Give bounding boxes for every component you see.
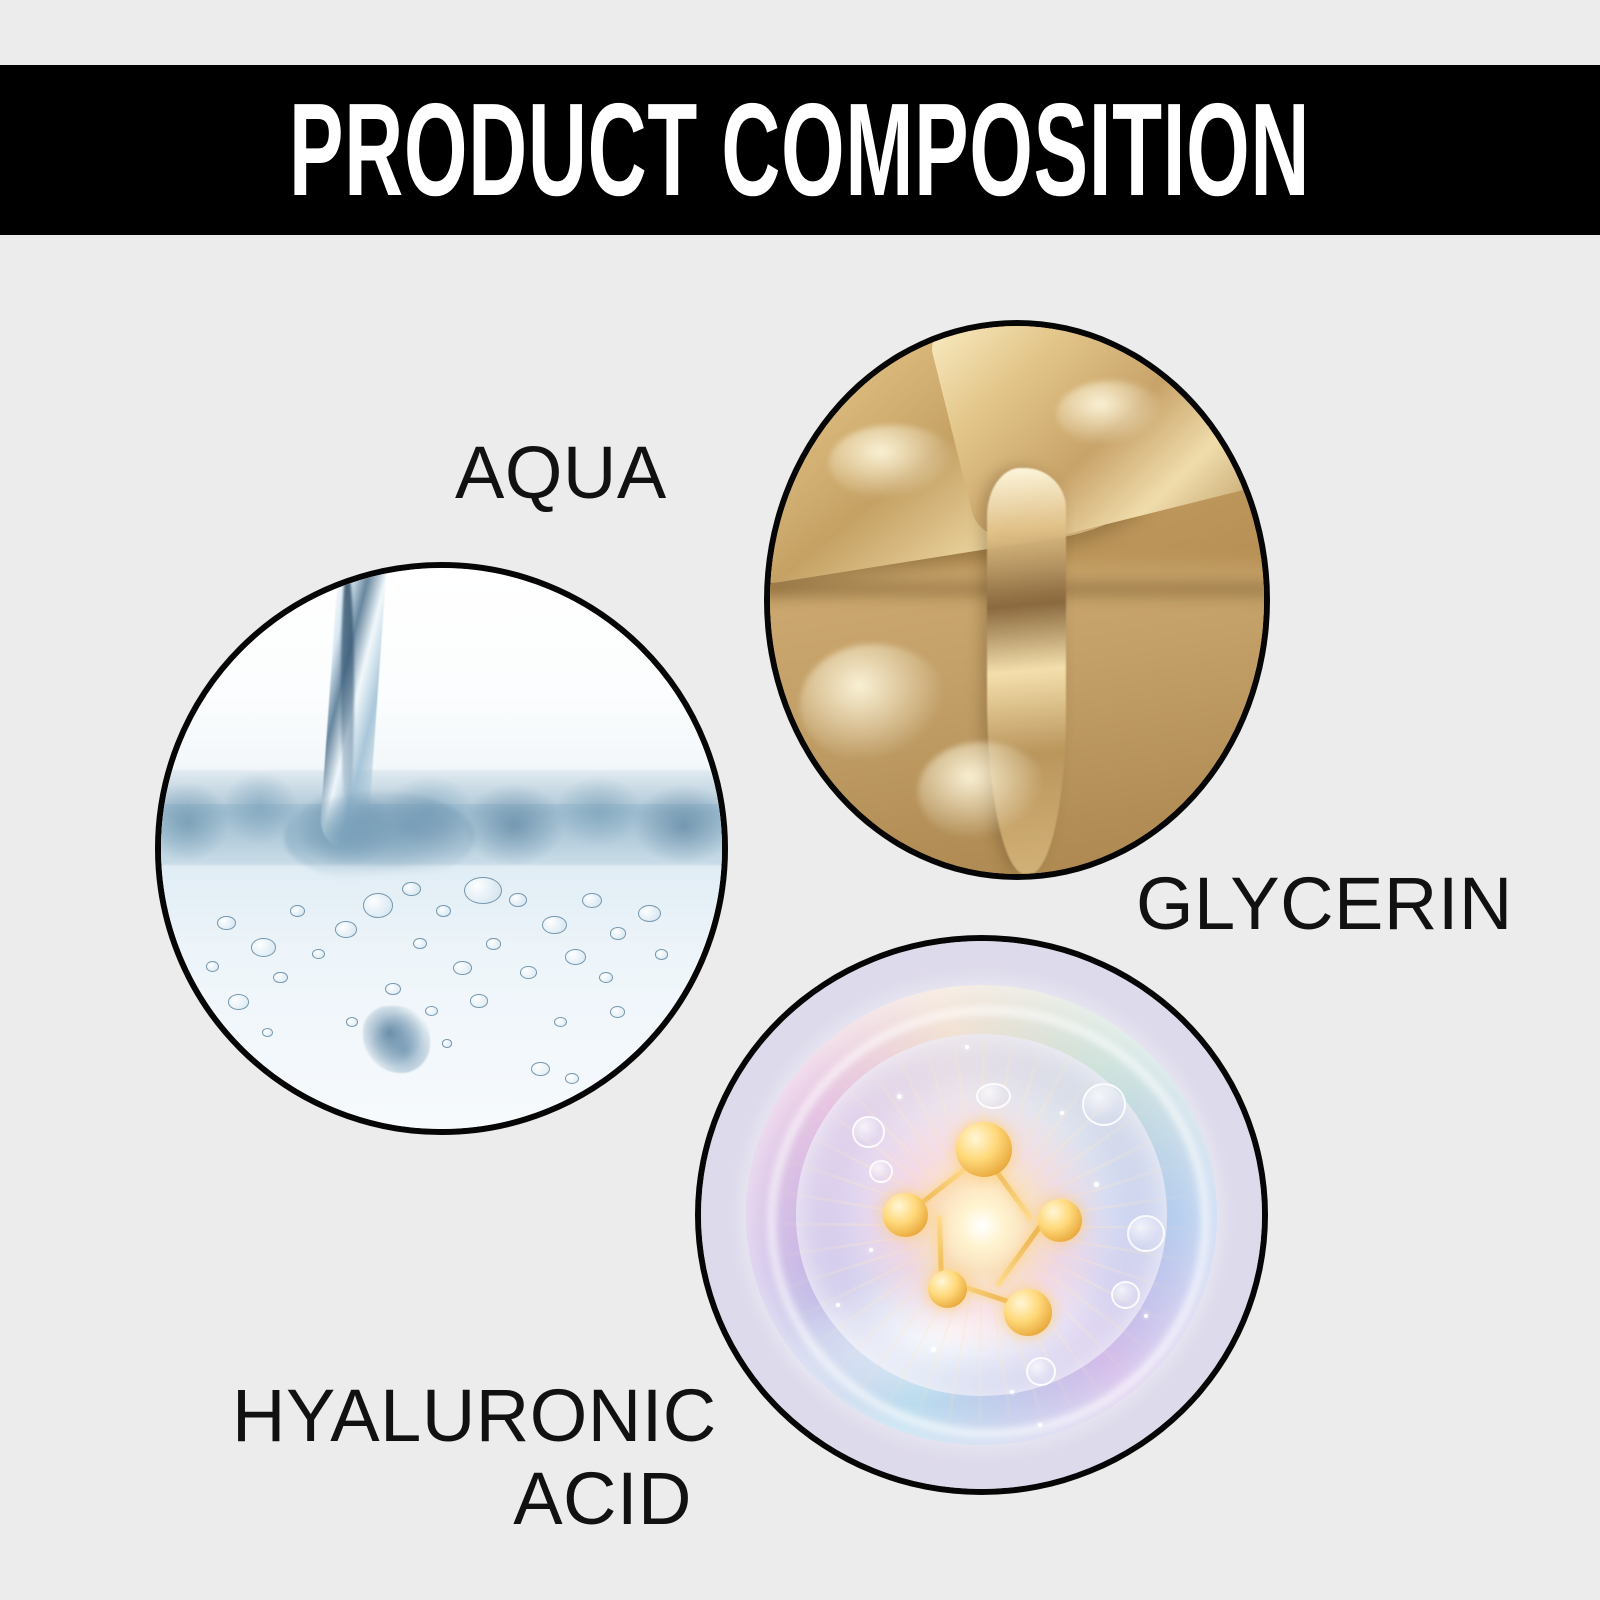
bubble (565, 949, 586, 964)
sparkle (1010, 1390, 1014, 1394)
serum-bubble (1127, 1215, 1165, 1252)
bubble (582, 893, 602, 908)
bubble (509, 893, 527, 907)
bubble (312, 949, 324, 959)
ingredient-label-glycerin: GLYCERIN (1136, 863, 1513, 946)
water-splash (284, 792, 475, 882)
sparkle (965, 1045, 969, 1049)
serum-bubble (1082, 1083, 1125, 1125)
bubble (290, 905, 305, 917)
bubble (273, 972, 287, 984)
ingredient-image-glycerin (764, 320, 1270, 880)
bubble (520, 966, 537, 979)
sparkle (1038, 1423, 1042, 1427)
bubble (542, 916, 566, 934)
water-sky (161, 568, 722, 804)
page-title: PRODUCT COMPOSITION (289, 84, 1310, 216)
glycerin-highlight (829, 425, 957, 502)
bubble (565, 1073, 579, 1084)
molecule-node (1004, 1289, 1052, 1336)
bubble (262, 1028, 273, 1037)
ingredient-label-hyaluronic-acid: HYALURONIC ACID (232, 1375, 692, 1541)
ingredient-image-hyaluronic-acid (695, 935, 1268, 1495)
sparkle (1094, 1182, 1099, 1187)
sparkle (1144, 1314, 1148, 1318)
bubble (453, 961, 472, 975)
bubble (363, 893, 393, 917)
water-stream-core (341, 568, 354, 815)
molecule-node (883, 1193, 928, 1237)
bubble (610, 1006, 625, 1018)
bubble (610, 927, 627, 940)
bubble (486, 938, 500, 950)
title-banner: PRODUCT COMPOSITION (0, 65, 1600, 235)
product-composition-infographic: PRODUCT COMPOSITION (0, 0, 1600, 1600)
glycerin-highlight (918, 742, 1046, 841)
molecule-node (956, 1122, 1012, 1177)
bubble (531, 1062, 550, 1076)
bubble (599, 972, 613, 983)
bubble (638, 905, 661, 922)
sparkle (836, 1303, 840, 1307)
ingredient-label-aqua: AQUA (455, 432, 667, 515)
sparkle (1060, 1111, 1064, 1115)
bubble (413, 938, 426, 949)
bubble (228, 994, 249, 1009)
bubble (217, 916, 236, 930)
bubble (425, 1006, 438, 1016)
bubble (554, 1017, 567, 1027)
bubble (655, 949, 668, 959)
glycerin-highlight (800, 644, 948, 765)
bubble (206, 961, 219, 972)
sparkle (931, 1347, 936, 1352)
bubble (335, 921, 357, 938)
glycerin-highlight (1057, 381, 1166, 447)
serum-bubble (1111, 1281, 1140, 1310)
bubble (385, 983, 400, 995)
serum-bubble (852, 1116, 884, 1147)
serum-bubble (1026, 1357, 1055, 1386)
bubble (346, 1017, 358, 1027)
serum-bubble (976, 1083, 1011, 1109)
ingredient-image-aqua (155, 562, 728, 1135)
